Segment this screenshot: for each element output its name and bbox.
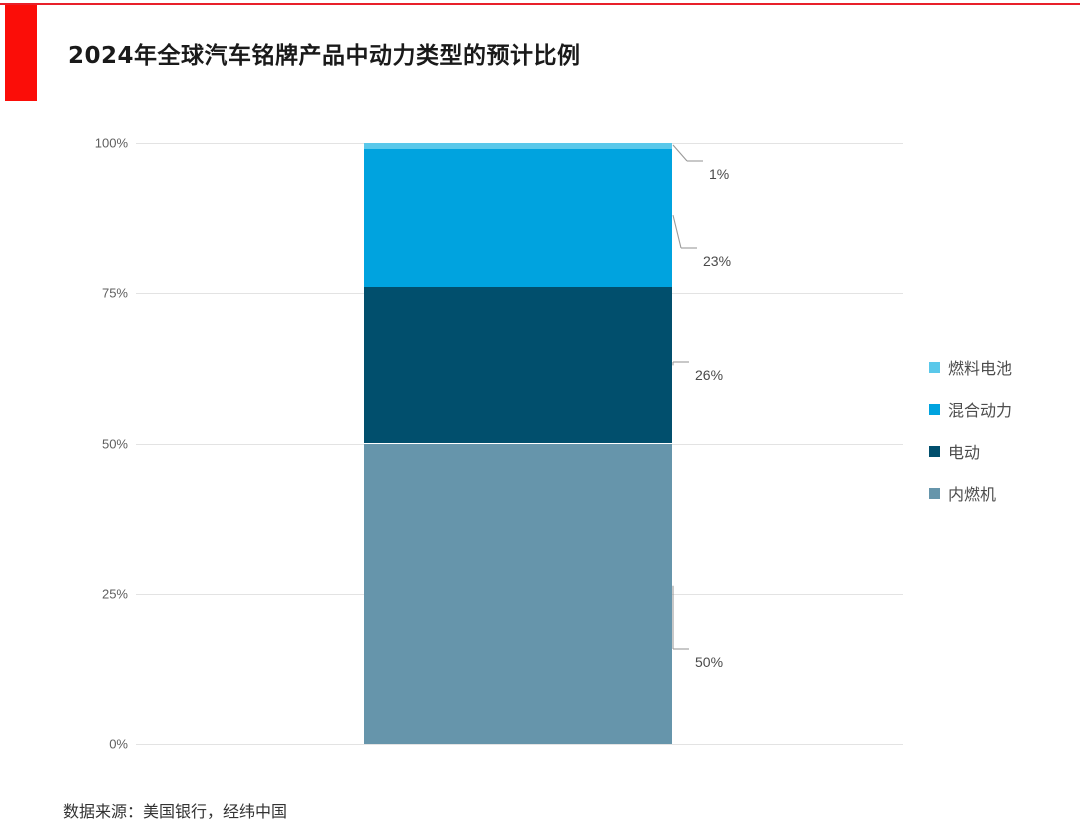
chart-legend: 燃料电池混合动力电动内燃机: [929, 346, 1079, 514]
legend-swatch-icon: [929, 446, 940, 457]
y-axis-tick-label: 0%: [68, 737, 128, 752]
legend-swatch-icon: [929, 362, 940, 373]
legend-swatch-icon: [929, 404, 940, 415]
data-label-3: 50%: [695, 654, 723, 670]
legend-label: 内燃机: [948, 481, 996, 505]
legend-swatch-icon: [929, 488, 940, 499]
data-label-0: 1%: [709, 166, 729, 182]
legend-label: 电动: [948, 439, 980, 463]
y-axis-tick-label: 50%: [68, 436, 128, 451]
legend-item-2[interactable]: 电动: [929, 430, 1079, 472]
legend-label: 混合动力: [948, 397, 1012, 421]
legend-item-1[interactable]: 混合动力: [929, 388, 1079, 430]
y-axis-tick-label: 75%: [68, 286, 128, 301]
legend-item-0[interactable]: 燃料电池: [929, 346, 1079, 388]
data-label-2: 26%: [695, 367, 723, 383]
y-axis-tick-label: 100%: [68, 136, 128, 151]
source-note: 数据来源：美国银行，经纬中国: [63, 798, 287, 822]
y-axis-tick-label: 25%: [68, 586, 128, 601]
chart-plot-area: 100%75%50%25%0% 1%23%26%50%: [0, 0, 1080, 829]
data-label-1: 23%: [703, 253, 731, 269]
bar-segment-1[interactable]: [364, 149, 672, 287]
stacked-bar[interactable]: [364, 143, 672, 744]
legend-item-3[interactable]: 内燃机: [929, 472, 1079, 514]
bar-segment-3[interactable]: [364, 444, 672, 745]
bar-segment-2[interactable]: [364, 287, 672, 443]
legend-label: 燃料电池: [948, 355, 1012, 379]
gridline: [136, 744, 903, 745]
